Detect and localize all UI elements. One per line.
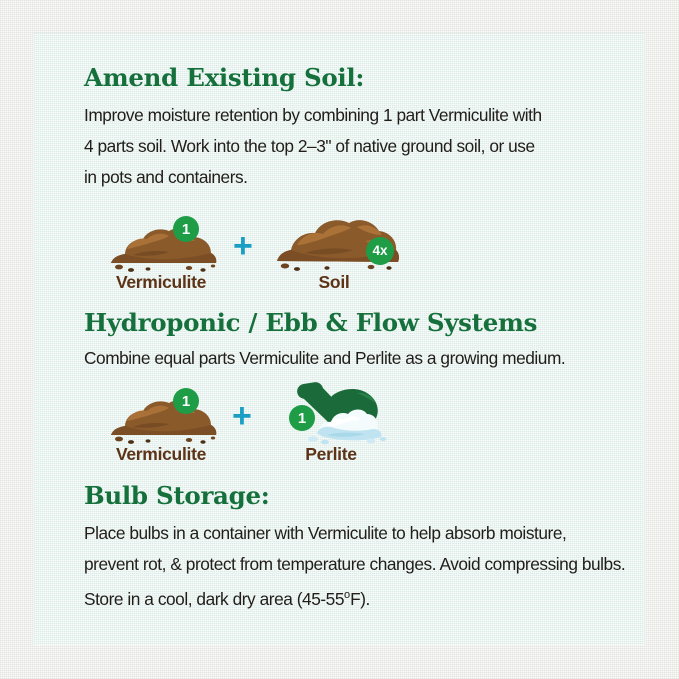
ingredient-label-vermiculite: Vermiculite <box>116 444 206 465</box>
body-text-before-degree: Store in a cool, dark dry area (45-55 <box>84 589 344 609</box>
badge-part-count-vermiculite-1: 1 <box>173 388 199 414</box>
ingredient-label-vermiculite: Vermiculite <box>116 272 206 293</box>
body-text-after-degree: F). <box>350 589 370 609</box>
section-body-hydroponic-ebb-flow-systems: Combine equal parts Vermiculite and Perl… <box>84 343 565 374</box>
badge-part-count-vermiculite-1: 1 <box>173 216 199 242</box>
body-line: Place bulbs in a container with Vermicul… <box>84 518 625 549</box>
body-line: Combine equal parts Vermiculite and Perl… <box>84 343 565 374</box>
soil-mound-icon <box>103 213 223 273</box>
plus-operator-icon: + <box>232 399 252 433</box>
section-heading-bulb-storage: Bulb Storage: <box>84 481 270 510</box>
ingredient-label-perlite: Perlite <box>305 444 356 465</box>
soil-mound-icon <box>103 385 223 445</box>
body-line: prevent rot, & protect from temperature … <box>84 549 625 580</box>
section-heading-hydroponic-ebb-flow-systems: Hydroponic / Ebb & Flow Systems <box>84 308 537 337</box>
plus-operator-icon: + <box>233 229 253 263</box>
ingredient-label-soil: Soil <box>319 272 350 293</box>
section-body-amend-existing-soil: Improve moisture retention by combining … <box>84 100 542 193</box>
body-line: Improve moisture retention by combining … <box>84 100 542 131</box>
instruction-panel: Amend Existing Soil: Improve moisture re… <box>33 33 645 645</box>
section-heading-amend-existing-soil: Amend Existing Soil: <box>84 63 364 92</box>
badge-part-count-perlite-1: 1 <box>289 405 315 431</box>
trowel-perlite-icon <box>261 373 391 445</box>
body-line: in pots and containers. <box>84 162 542 193</box>
section-body-bulb-storage: Place bulbs in a container with Vermicul… <box>84 518 625 615</box>
badge-part-count-soil-4x: 4x <box>366 237 394 265</box>
body-line-temperature: Store in a cool, dark dry area (45-55oF)… <box>84 580 625 615</box>
body-line: 4 parts soil. Work into the top 2–3" of … <box>84 131 542 162</box>
